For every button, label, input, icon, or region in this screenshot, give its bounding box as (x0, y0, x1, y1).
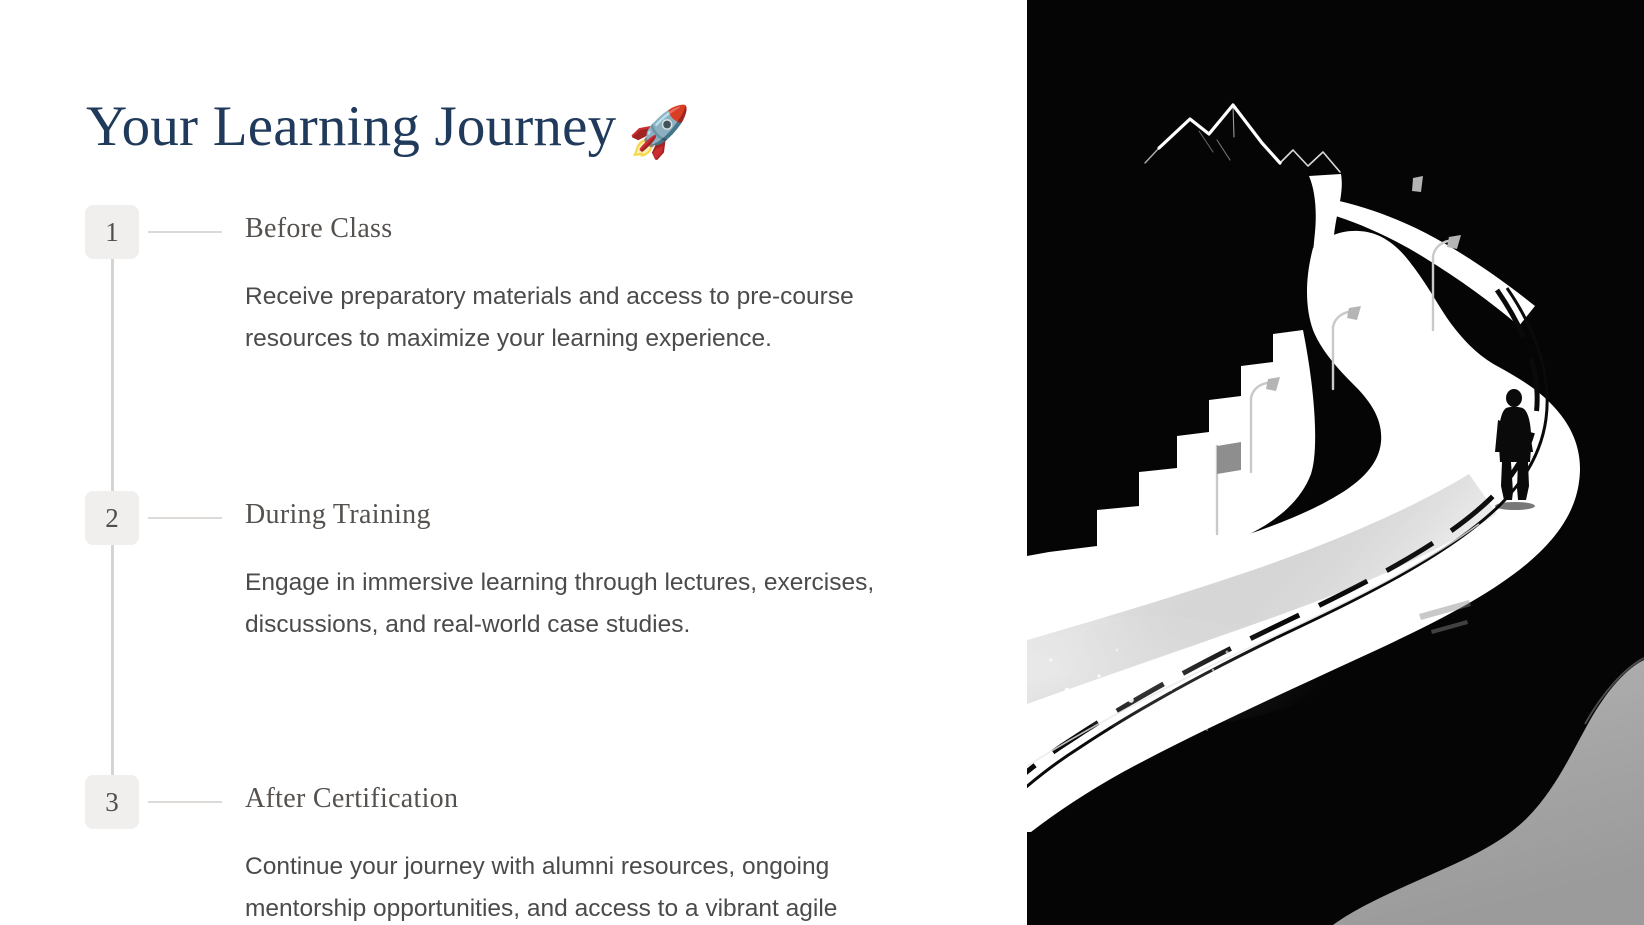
step-description: Continue your journey with alumni resour… (245, 846, 885, 925)
journey-timeline: 1 Before Class Receive preparatory mater… (0, 205, 1027, 925)
winding-road-illustration (1027, 0, 1644, 925)
step-connector-line (148, 517, 222, 519)
learning-journey-slide: Your Learning Journey🚀 1 Before Class Re… (0, 0, 1644, 925)
step-description: Engage in immersive learning through lec… (245, 562, 885, 646)
step-heading: After Certification (245, 783, 458, 815)
page-title: Your Learning Journey🚀 (86, 94, 691, 162)
step-heading: Before Class (245, 213, 392, 245)
step-connector-line (148, 231, 222, 233)
timeline-step: 3 After Certification Continue your jour… (0, 775, 1027, 925)
step-connector-line (148, 801, 222, 803)
illustration-panel (1027, 0, 1644, 925)
timeline-step-header: 1 Before Class (0, 205, 1027, 259)
timeline-step: 1 Before Class Receive preparatory mater… (0, 205, 1027, 360)
step-number-badge: 3 (85, 775, 139, 829)
content-panel: Your Learning Journey🚀 1 Before Class Re… (0, 0, 1027, 925)
timeline-step: 2 During Training Engage in immersive le… (0, 491, 1027, 646)
step-heading: During Training (245, 499, 431, 531)
timeline-step-header: 2 During Training (0, 491, 1027, 545)
page-title-text: Your Learning Journey (86, 95, 616, 158)
timeline-step-header: 3 After Certification (0, 775, 1027, 829)
rocket-icon: 🚀 (628, 103, 690, 161)
step-number-badge: 2 (85, 491, 139, 545)
step-number-badge: 1 (85, 205, 139, 259)
step-description: Receive preparatory materials and access… (245, 276, 885, 360)
